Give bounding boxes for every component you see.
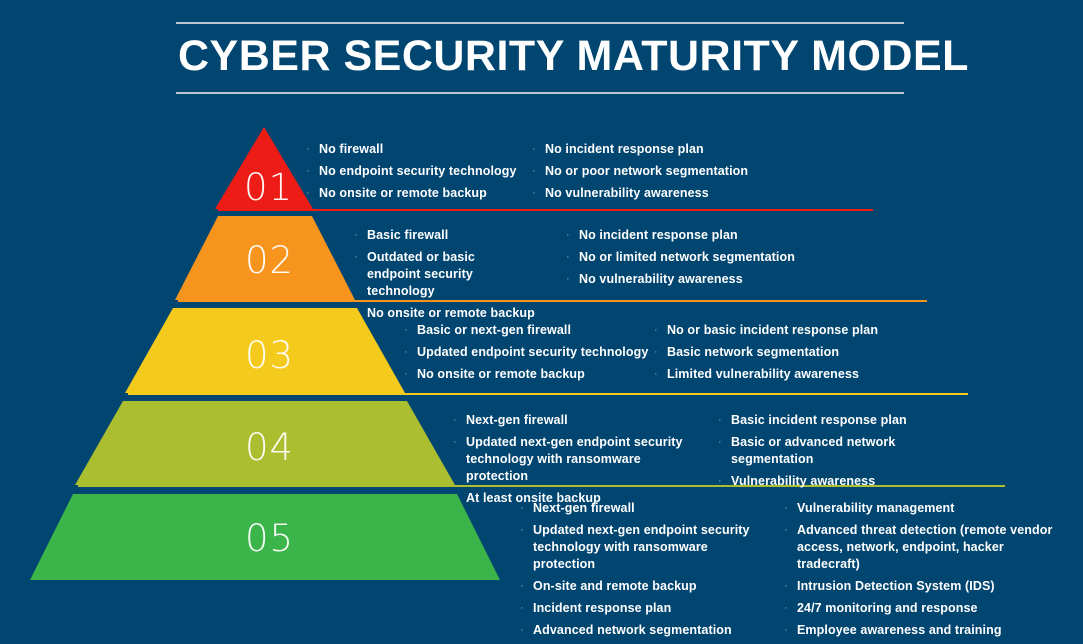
bullet-dot-icon: ·	[519, 500, 533, 517]
pyramid-tier-02[interactable]: 02	[175, 216, 355, 301]
tier-01-bullets: · No firewall · No endpoint security tec…	[305, 141, 771, 207]
bullet-dot-icon: ·	[519, 522, 533, 539]
list-item: · No onsite or remote backup	[305, 185, 531, 202]
list-item: · No endpoint security technology	[305, 163, 531, 180]
list-item: · No vulnerability awareness	[531, 185, 771, 202]
list-item: · No incident response plan	[531, 141, 771, 158]
list-item: · No or limited network segmentation	[565, 249, 815, 266]
bullet-dot-icon: ·	[653, 322, 667, 339]
list-item: · Employee awareness and training	[783, 622, 1073, 639]
tier-01-left-column: · No firewall · No endpoint security tec…	[305, 141, 531, 207]
pyramid-tier-01[interactable]: 01	[215, 127, 315, 210]
tier-05-left-column: · Next-gen firewall · Updated next-gen e…	[519, 500, 783, 644]
tier-02-right-column: · No incident response plan · No or limi…	[565, 227, 815, 327]
list-item: · Basic or next-gen firewall	[403, 322, 653, 339]
bullet-dot-icon: ·	[717, 473, 731, 490]
bullet-dot-icon: ·	[519, 578, 533, 595]
bullet-dot-icon: ·	[305, 163, 319, 180]
tier-04-bullets: · Next-gen firewall · Updated next-gen e…	[452, 412, 977, 512]
list-item: · Basic incident response plan	[717, 412, 977, 429]
bullet-dot-icon: ·	[717, 412, 731, 429]
pyramid-tier-04[interactable]: 04	[75, 401, 455, 486]
bullet-dot-icon: ·	[353, 249, 367, 266]
bullet-dot-icon: ·	[452, 434, 466, 451]
tier-03-bullets: · Basic or next-gen firewall · Updated e…	[403, 322, 903, 388]
bullet-dot-icon: ·	[531, 185, 545, 202]
list-item: · No or basic incident response plan	[653, 322, 903, 339]
tier-05-trapezoid-shape	[30, 494, 500, 581]
bullet-dot-icon: ·	[565, 227, 579, 244]
bullet-dot-icon: ·	[353, 227, 367, 244]
list-item: · Vulnerability awareness	[717, 473, 977, 490]
list-item: · Updated endpoint security technology	[403, 344, 653, 361]
bullet-dot-icon: ·	[452, 412, 466, 429]
list-item: · Outdated or basic endpoint security te…	[353, 249, 565, 300]
pyramid-tier-03[interactable]: 03	[125, 308, 405, 394]
tier-04-right-column: · Basic incident response plan · Basic o…	[717, 412, 977, 512]
tier-03-accent-line	[128, 393, 968, 395]
bullet-dot-icon: ·	[565, 271, 579, 288]
bullet-dot-icon: ·	[717, 434, 731, 451]
list-item: · Basic or advanced network segmentation	[717, 434, 977, 468]
list-item: · Updated next-gen endpoint security tec…	[452, 434, 717, 485]
bullet-dot-icon: ·	[305, 185, 319, 202]
tier-03-left-column: · Basic or next-gen firewall · Updated e…	[403, 322, 653, 388]
bullet-dot-icon: ·	[783, 578, 797, 595]
bullet-dot-icon: ·	[783, 622, 797, 639]
list-item: · Limited vulnerability awareness	[653, 366, 903, 383]
bullet-dot-icon: ·	[783, 500, 797, 517]
list-item: · Intrusion Detection System (IDS)	[783, 578, 1073, 595]
bullet-dot-icon: ·	[519, 600, 533, 617]
bullet-dot-icon: ·	[783, 600, 797, 617]
bullet-dot-icon: ·	[403, 322, 417, 339]
list-item: · Next-gen firewall	[452, 412, 717, 429]
pyramid-diagram: 01 · No firewall · No endpoint security …	[0, 0, 1083, 634]
list-item: · 24/7 monitoring and response	[783, 600, 1073, 617]
bullet-dot-icon: ·	[565, 249, 579, 266]
list-item: · Vulnerability management	[783, 500, 1073, 517]
bullet-dot-icon: ·	[531, 141, 545, 158]
list-item: · Advanced network segmentation	[519, 622, 783, 639]
bullet-dot-icon: ·	[783, 522, 797, 539]
tier-01-triangle-shape	[215, 127, 315, 210]
list-item: · No onsite or remote backup	[403, 366, 653, 383]
list-item: · No vulnerability awareness	[565, 271, 815, 288]
list-item: · Updated next-gen endpoint security tec…	[519, 522, 783, 573]
bullet-dot-icon: ·	[305, 141, 319, 158]
tier-05-bullets: · Next-gen firewall · Updated next-gen e…	[519, 500, 1073, 644]
bullet-dot-icon: ·	[403, 344, 417, 361]
tier-03-right-column: · No or basic incident response plan · B…	[653, 322, 903, 388]
tier-05-right-column: · Vulnerability management · Advanced th…	[783, 500, 1073, 644]
list-item: · Basic network segmentation	[653, 344, 903, 361]
tier-01-accent-line	[218, 209, 873, 211]
list-item: · Advanced threat detection (remote vend…	[783, 522, 1073, 573]
list-item: · Next-gen firewall	[519, 500, 783, 517]
bullet-dot-icon: ·	[403, 366, 417, 383]
tier-01-right-column: · No incident response plan · No or poor…	[531, 141, 771, 207]
tier-04-trapezoid-shape	[75, 401, 455, 486]
bullet-dot-icon: ·	[653, 366, 667, 383]
list-item: · No incident response plan	[565, 227, 815, 244]
list-item: · No firewall	[305, 141, 531, 158]
list-item: · Basic firewall	[353, 227, 565, 244]
tier-02-bullets: · Basic firewall · Outdated or basic end…	[353, 227, 815, 327]
list-item: · Incident response plan	[519, 600, 783, 617]
tier-03-trapezoid-shape	[125, 308, 405, 394]
tier-02-trapezoid-shape	[175, 216, 355, 301]
list-item: · No or poor network segmentation	[531, 163, 771, 180]
pyramid-tier-05[interactable]: 05	[30, 494, 500, 581]
bullet-dot-icon: ·	[531, 163, 545, 180]
list-item: · On-site and remote backup	[519, 578, 783, 595]
bullet-dot-icon: ·	[519, 622, 533, 639]
bullet-dot-icon: ·	[653, 344, 667, 361]
